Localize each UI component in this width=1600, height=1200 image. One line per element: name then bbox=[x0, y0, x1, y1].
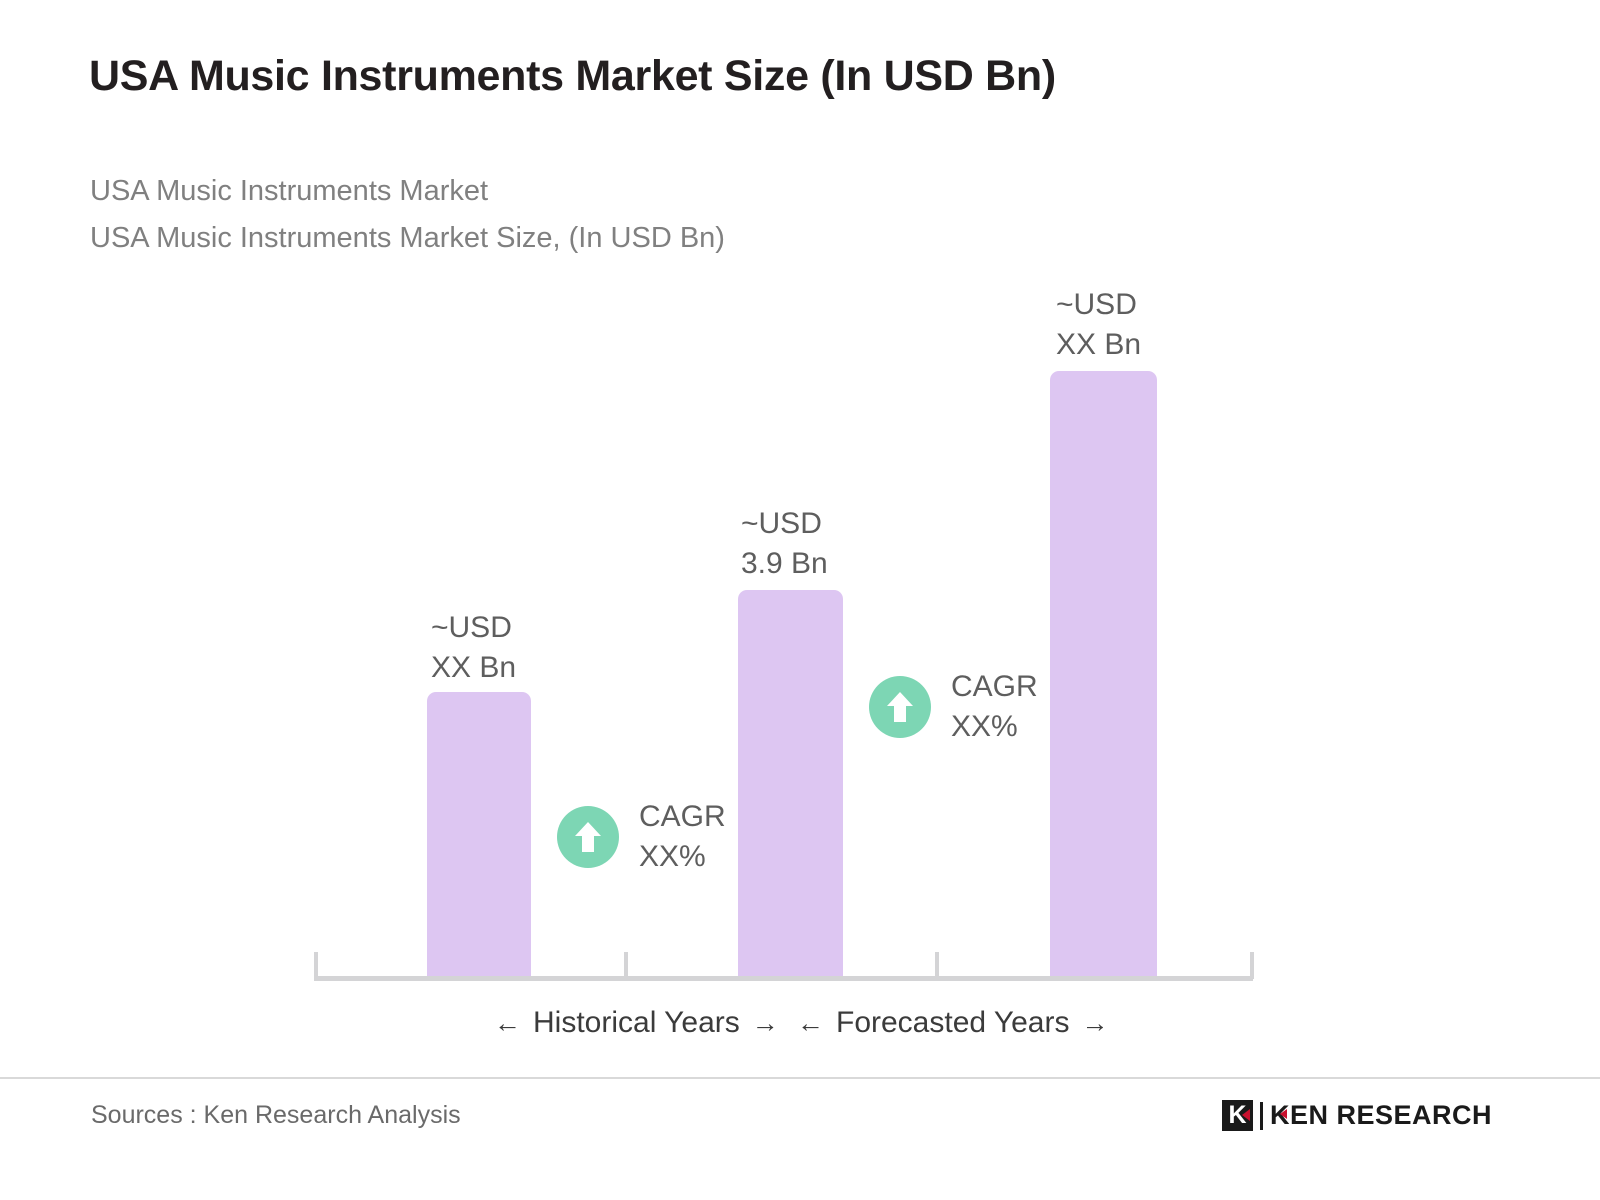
cagr-label-line-2: XX% bbox=[951, 707, 1038, 747]
arrow-right-icon: → bbox=[752, 1008, 779, 1039]
x-axis-line bbox=[314, 976, 1253, 981]
bar-value-label-historical: ~USD XX Bn bbox=[431, 608, 516, 688]
logo-wordmark-red-triangle-icon bbox=[1280, 1109, 1287, 1119]
period-label: Historical Years bbox=[533, 1006, 740, 1040]
period-caption-forecasted: ← Forecasted Years → bbox=[797, 1006, 1108, 1040]
bar-value-line-1: ~USD bbox=[741, 504, 828, 544]
cagr-label-line-1: CAGR bbox=[639, 797, 726, 837]
bar-value-line-1: ~USD bbox=[431, 608, 516, 648]
bar-value-line-2: XX Bn bbox=[431, 648, 516, 688]
arrow-left-icon: ← bbox=[797, 1008, 824, 1039]
period-caption-historical: ← Historical Years → bbox=[494, 1006, 779, 1040]
x-axis-tick-end bbox=[1250, 952, 1254, 979]
logo-divider-bar bbox=[1260, 1102, 1263, 1130]
bar-value-label-mid: ~USD 3.9 Bn bbox=[741, 504, 828, 584]
cagr-badge-mid-to-forecasted: CAGR XX% bbox=[869, 667, 1038, 747]
slide-canvas: USA Music Instruments Market Size (In US… bbox=[0, 0, 1600, 1200]
arrow-up-icon bbox=[869, 676, 931, 738]
arrow-left-icon: ← bbox=[494, 1008, 521, 1039]
period-label: Forecasted Years bbox=[836, 1006, 1069, 1040]
bar-mid bbox=[738, 590, 843, 978]
cagr-label: CAGR XX% bbox=[951, 667, 1038, 747]
bar-forecasted bbox=[1050, 371, 1157, 978]
ken-research-logo: K KEN RESEARCH bbox=[1222, 1100, 1492, 1131]
logo-wordmark: KEN RESEARCH bbox=[1270, 1100, 1492, 1131]
arrow-right-icon: → bbox=[1081, 1008, 1108, 1039]
sources-note: Sources : Ken Research Analysis bbox=[91, 1101, 461, 1130]
footer-divider bbox=[0, 1077, 1600, 1079]
bar-value-line-1: ~USD bbox=[1056, 285, 1141, 325]
bar-value-line-2: XX Bn bbox=[1056, 325, 1141, 365]
cagr-badge-historical-to-mid: CAGR XX% bbox=[557, 797, 726, 877]
bar-value-line-2: 3.9 Bn bbox=[741, 544, 828, 584]
logo-red-triangle-icon bbox=[1242, 1109, 1250, 1121]
x-axis-tick-1 bbox=[624, 952, 628, 979]
bar-historical bbox=[427, 692, 531, 978]
bar-value-label-forecasted: ~USD XX Bn bbox=[1056, 285, 1141, 365]
logo-wordmark-text: KEN RESEARCH bbox=[1270, 1100, 1492, 1130]
logo-k-mark-icon: K bbox=[1222, 1100, 1253, 1131]
cagr-label: CAGR XX% bbox=[639, 797, 726, 877]
cagr-label-line-2: XX% bbox=[639, 837, 726, 877]
bar-chart-plot-area: ~USD XX Bn ~USD 3.9 Bn ~USD XX Bn CAGR X… bbox=[0, 0, 1600, 1200]
arrow-up-icon bbox=[557, 806, 619, 868]
x-axis-tick-start bbox=[314, 952, 318, 979]
x-axis-tick-2 bbox=[935, 952, 939, 979]
cagr-label-line-1: CAGR bbox=[951, 667, 1038, 707]
